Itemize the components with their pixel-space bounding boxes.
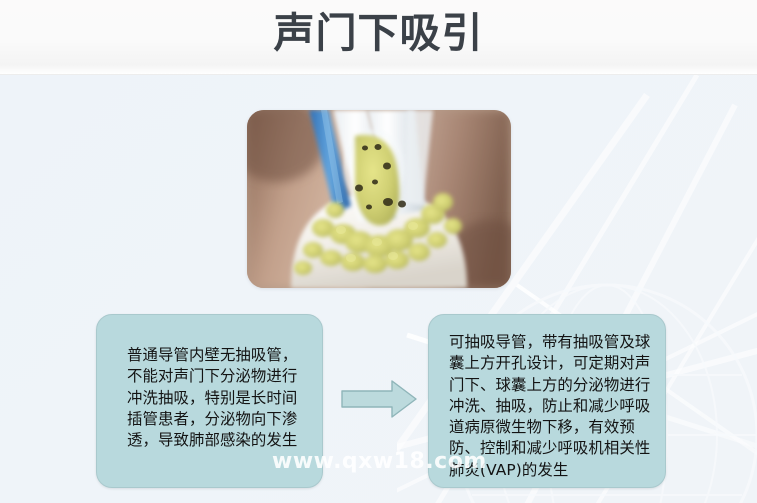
info-box-conventional-tube-text: 普通导管内壁无抽吸管，不能对声门下分泌物进行冲洗抽吸，特别是长时间插管患者，分泌… [111,323,310,451]
info-box-suctionable-tube: 可抽吸导管，带有抽吸管及球囊上方开孔设计，可定期对声门下、球囊上方的分泌物进行冲… [428,314,666,488]
info-box-conventional-tube: 普通导管内壁无抽吸管，不能对声门下分泌物进行冲洗抽吸，特别是长时间插管患者，分泌… [96,314,323,488]
arrow-right-shape [340,378,418,420]
slide-header: 声门下吸引 [0,0,757,75]
photo-graphic [247,110,511,288]
arrow-right-icon [340,378,418,420]
info-box-suctionable-tube-text: 可抽吸导管，带有抽吸管及球囊上方开孔设计，可定期对声门下、球囊上方的分泌物进行冲… [443,323,653,481]
endotracheal-tube-photo [247,110,511,288]
slide: 声门下吸引 [0,0,757,503]
page-title: 声门下吸引 [0,7,757,59]
